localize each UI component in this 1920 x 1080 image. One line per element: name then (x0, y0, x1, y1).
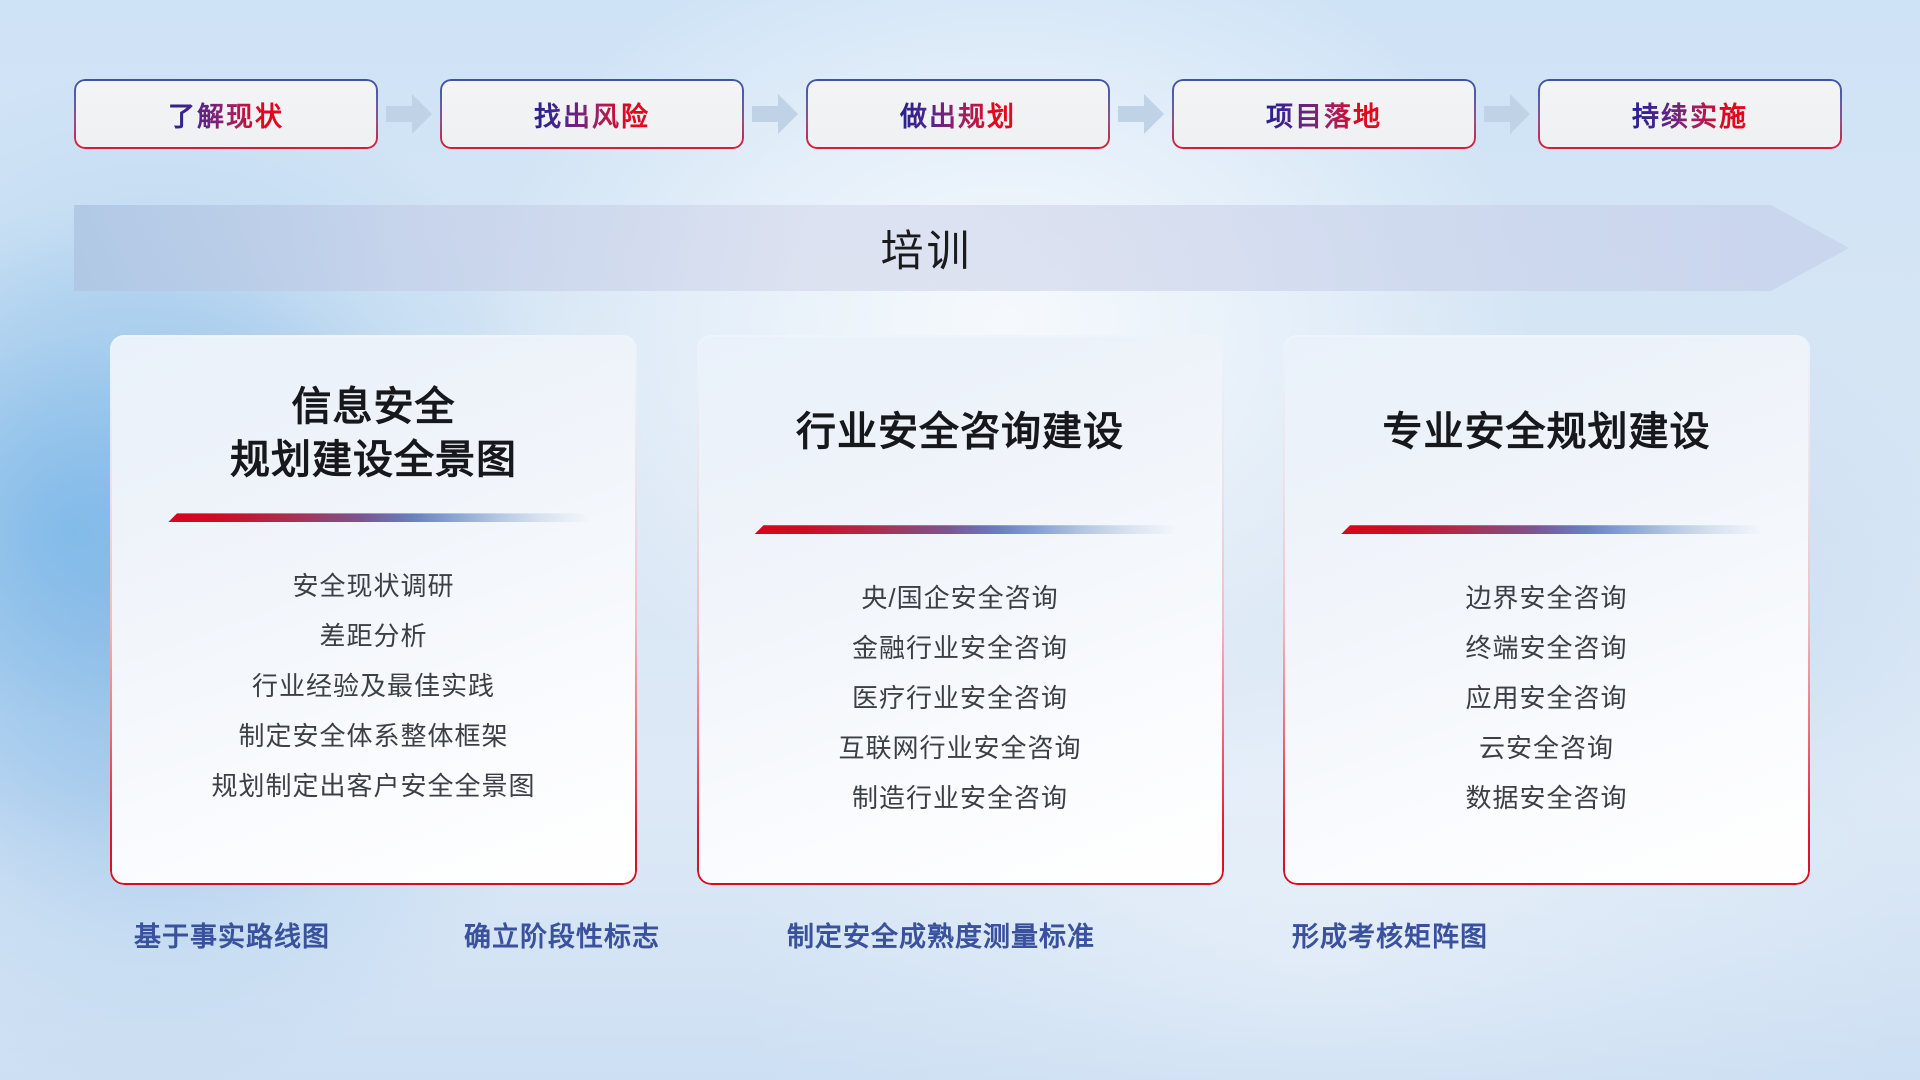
step-button-5[interactable]: 持续实施 (1538, 79, 1842, 149)
step-button-4[interactable]: 项目落地 (1172, 79, 1476, 149)
footer-label-1: 基于事实路线图 (134, 915, 330, 954)
list-item: 差距分析 (144, 611, 603, 661)
card-2-title: 行业安全咨询建设 (731, 406, 1190, 459)
list-item: 互联网行业安全咨询 (731, 723, 1190, 773)
footer-label-4: 形成考核矩阵图 (1292, 915, 1488, 954)
list-item: 终端安全咨询 (1317, 623, 1776, 673)
list-item: 制定安全体系整体框架 (144, 711, 603, 761)
card-2-divider-bar (755, 525, 1176, 534)
card-1-list: 安全现状调研 差距分析 行业经验及最佳实践 制定安全体系整体框架 规划制定出客户… (144, 561, 603, 811)
card-1-divider (144, 513, 603, 527)
step-label-2: 找出风险 (534, 95, 650, 134)
card-3-divider-bar (1341, 525, 1762, 534)
slide-root: 了解现状 找出风险 做出规划 项目落地 (0, 0, 1920, 1080)
footer-label-2: 确立阶段性标志 (464, 915, 660, 954)
card-1-title-line-1: 信息安全 (144, 381, 603, 434)
list-item: 制造行业安全咨询 (731, 773, 1190, 823)
list-item: 行业经验及最佳实践 (144, 661, 603, 711)
card-1[interactable]: 信息安全 规划建设全景图 安全现状调研 差距分析 行业经验及最佳实践 制定安全体… (110, 335, 637, 885)
training-banner: 培训 (74, 205, 1849, 291)
list-item: 边界安全咨询 (1317, 573, 1776, 623)
card-row: 信息安全 规划建设全景图 安全现状调研 差距分析 行业经验及最佳实践 制定安全体… (110, 335, 1810, 885)
list-item: 央/国企安全咨询 (731, 573, 1190, 623)
card-1-divider-bar (168, 513, 589, 522)
list-item: 金融行业安全咨询 (731, 623, 1190, 673)
card-3-divider (1317, 525, 1776, 539)
card-3-title: 专业安全规划建设 (1317, 406, 1776, 459)
card-1-title: 信息安全 规划建设全景图 (144, 381, 603, 487)
list-item: 数据安全咨询 (1317, 773, 1776, 823)
step-button-1[interactable]: 了解现状 (74, 79, 378, 149)
list-item: 安全现状调研 (144, 561, 603, 611)
step-button-3[interactable]: 做出规划 (806, 79, 1110, 149)
list-item: 规划制定出客户安全全景图 (144, 761, 603, 811)
card-2-title-line-1: 行业安全咨询建设 (731, 406, 1190, 459)
footer-label-3: 制定安全成熟度测量标准 (787, 915, 1095, 954)
process-step-bar: 了解现状 找出风险 做出规划 项目落地 (74, 78, 1846, 150)
card-1-inner: 信息安全 规划建设全景图 安全现状调研 差距分析 行业经验及最佳实践 制定安全体… (110, 335, 637, 885)
card-3-inner: 专业安全规划建设 边界安全咨询 终端安全咨询 应用安全咨询 云安全咨询 数据安全… (1283, 335, 1810, 885)
card-2-inner: 行业安全咨询建设 央/国企安全咨询 金融行业安全咨询 医疗行业安全咨询 互联网行… (697, 335, 1224, 885)
banner-title: 培训 (74, 205, 1849, 291)
arrow-right-icon (744, 79, 806, 149)
card-2[interactable]: 行业安全咨询建设 央/国企安全咨询 金融行业安全咨询 医疗行业安全咨询 互联网行… (697, 335, 1224, 885)
arrow-right-icon (1476, 79, 1538, 149)
step-label-1: 了解现状 (168, 95, 284, 134)
list-item: 医疗行业安全咨询 (731, 673, 1190, 723)
card-2-divider (731, 525, 1190, 539)
step-label-5: 持续实施 (1632, 95, 1748, 134)
arrow-right-icon (378, 79, 440, 149)
step-label-4: 项目落地 (1266, 95, 1382, 134)
step-label-3: 做出规划 (900, 95, 1016, 134)
card-3-title-line-1: 专业安全规划建设 (1317, 406, 1776, 459)
card-3[interactable]: 专业安全规划建设 边界安全咨询 终端安全咨询 应用安全咨询 云安全咨询 数据安全… (1283, 335, 1810, 885)
step-button-2[interactable]: 找出风险 (440, 79, 744, 149)
card-2-list: 央/国企安全咨询 金融行业安全咨询 医疗行业安全咨询 互联网行业安全咨询 制造行… (731, 573, 1190, 823)
arrow-right-icon (1110, 79, 1172, 149)
card-3-list: 边界安全咨询 终端安全咨询 应用安全咨询 云安全咨询 数据安全咨询 (1317, 573, 1776, 823)
list-item: 云安全咨询 (1317, 723, 1776, 773)
card-1-title-line-2: 规划建设全景图 (144, 434, 603, 487)
list-item: 应用安全咨询 (1317, 673, 1776, 723)
footer-label-row: 基于事实路线图 确立阶段性标志 制定安全成熟度测量标准 形成考核矩阵图 (0, 915, 1920, 963)
